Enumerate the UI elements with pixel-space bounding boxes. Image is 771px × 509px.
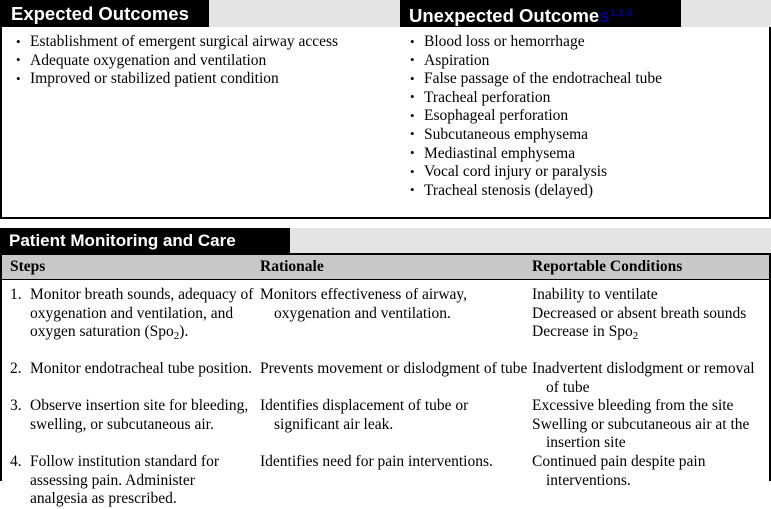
cell-rationale-text: Prevents movement or dislodgment of tube [260, 360, 528, 379]
patient-monitoring-header: Patient Monitoring and Care [0, 228, 290, 253]
cell-reportable-text: Inability to ventilate [532, 286, 771, 305]
expected-outcomes-list: Establishment of emergent surgical airwa… [14, 33, 338, 89]
list-item: Mediastinal emphysema [408, 145, 662, 164]
list-item: Tracheal perforation [408, 89, 662, 108]
row-number: 1. [10, 286, 30, 305]
row-number: 4. [10, 453, 30, 472]
citation-reference: 1,2,6 [609, 5, 632, 26]
cell-reportable-text: Swelling or subcutaneous air at the inse… [532, 416, 771, 453]
cell-steps: 2.Monitor endotracheal tube position. [10, 360, 254, 379]
list-item: Adequate oxygenation and ventilation [14, 52, 338, 71]
list-item: Improved or stabilized patient condition [14, 70, 338, 89]
unexpected-outcomes-list: Blood loss or hemorrhage Aspiration Fals… [408, 33, 662, 200]
list-item: Tracheal stenosis (delayed) [408, 182, 662, 201]
column-header-steps: Steps [10, 255, 45, 279]
cell-reportable-text: Inadvertent dislodgment or removal of tu… [532, 360, 771, 397]
monitoring-table: Steps Rationale Reportable Conditions 1.… [0, 253, 771, 481]
table-body: 1.Monitor breath sounds, adequacy of oxy… [2, 280, 769, 509]
cell-steps-text: Observe insertion site for bleeding, swe… [30, 397, 248, 433]
table-row: 3.Observe insertion site for bleeding, s… [2, 397, 769, 453]
cell-reportable-text: Excessive bleeding from the site [532, 397, 771, 416]
list-item: Blood loss or hemorrhage [408, 33, 662, 52]
cell-steps-text-end: ). [179, 323, 188, 340]
row-number: 3. [10, 397, 30, 416]
patient-monitoring-title: Patient Monitoring and Care [9, 231, 236, 250]
row-number: 2. [10, 360, 30, 379]
table-row: 1.Monitor breath sounds, adequacy of oxy… [2, 286, 769, 360]
patient-monitoring-section: Patient Monitoring and Care Steps Ration… [0, 228, 771, 481]
table-row: 4.Follow institution standard for assess… [2, 453, 769, 509]
cell-reportable: Inability to ventilate Decreased or abse… [532, 286, 771, 346]
cell-steps-text: Monitor endotracheal tube position. [30, 360, 252, 377]
cell-rationale: Prevents movement or dislodgment of tube [260, 360, 528, 379]
cell-reportable: Excessive bleeding from the site Swellin… [532, 397, 771, 453]
unexpected-outcomes-title: Unexpected Outcome [409, 5, 599, 26]
column-header-reportable: Reportable Conditions [532, 255, 682, 279]
table-header-row: Steps Rationale Reportable Conditions [2, 255, 769, 280]
cell-reportable: Inadvertent dislodgment or removal of tu… [532, 360, 771, 397]
cell-reportable-text: Decrease in Spo [532, 323, 633, 340]
cell-rationale: Identifies displacement of tube or signi… [260, 397, 528, 434]
cell-steps: 1.Monitor breath sounds, adequacy of oxy… [10, 286, 254, 346]
list-item: Establishment of emergent surgical airwa… [14, 33, 338, 52]
outcomes-box: Expected Outcomes Unexpected Outcomes1,2… [0, 0, 771, 219]
citation-superscript: 1,2,6 [609, 7, 632, 19]
cell-rationale-text: Monitors effectiveness of airway, oxygen… [260, 286, 528, 323]
subscript-two: 2 [633, 330, 639, 342]
unexpected-outcomes-header: Unexpected Outcomes1,2,6 [400, 0, 681, 27]
list-item: Subcutaneous emphysema [408, 126, 662, 145]
column-header-rationale: Rationale [260, 255, 324, 279]
cell-steps: 3.Observe insertion site for bleeding, s… [10, 397, 254, 434]
unexpected-outcomes-title-suffix: s [599, 5, 609, 26]
cell-reportable: Continued pain despite pain intervention… [532, 453, 771, 490]
cell-reportable-text: Decreased or absent breath sounds [532, 305, 771, 324]
cell-reportable-text: Continued pain despite pain intervention… [532, 453, 771, 490]
cell-rationale-text: Identifies need for pain interventions. [260, 453, 528, 472]
cell-steps-text: Monitor breath sounds, adequacy of oxyge… [30, 286, 253, 340]
list-item: Esophageal perforation [408, 107, 662, 126]
list-item: Vocal cord injury or paralysis [408, 163, 662, 182]
expected-outcomes-header: Expected Outcomes [2, 0, 209, 27]
cell-rationale-text: Identifies displacement of tube or signi… [260, 397, 528, 434]
table-row: 2.Monitor endotracheal tube position. Pr… [2, 360, 769, 397]
list-item: False passage of the endotracheal tube [408, 70, 662, 89]
expected-outcomes-title: Expected Outcomes [11, 3, 189, 24]
cell-rationale: Monitors effectiveness of airway, oxygen… [260, 286, 528, 323]
cell-steps-text: Follow institution standard for assessin… [30, 453, 219, 507]
cell-rationale: Identifies need for pain interventions. [260, 453, 528, 472]
list-item: Aspiration [408, 52, 662, 71]
